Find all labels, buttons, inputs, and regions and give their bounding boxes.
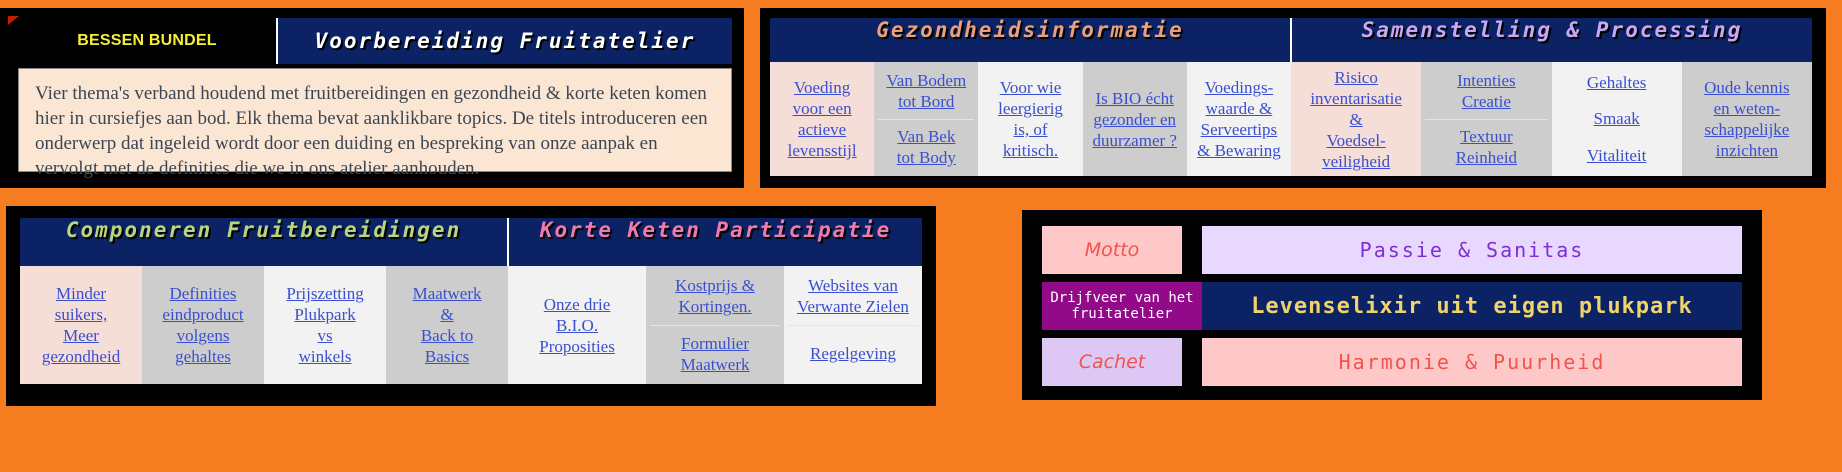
motto-table: Motto Passie & Sanitas Drijfveer van het… — [1042, 226, 1742, 386]
topic-cell[interactable]: Oude kennis en weten- schappelijke inzic… — [1682, 62, 1812, 176]
cachet-row: Cachet Harmonie & Puurheid — [1042, 338, 1742, 386]
topic-link[interactable]: eindproduct — [162, 304, 243, 325]
motto-value: Passie & Sanitas — [1202, 226, 1742, 274]
componeren-cells: Minder suikers, Meer gezondheid Definiti… — [20, 266, 508, 392]
topic-cell[interactable]: Prijszetting Plukpark vs winkels — [264, 266, 386, 384]
topic-cell[interactable]: Maatwerk & Back to Basics — [386, 266, 508, 384]
gezondheidsinformatie-cells: Voeding voor een actieve levensstijl Van… — [770, 62, 1291, 176]
topic-link[interactable]: volgens — [177, 325, 230, 346]
topic-cell[interactable]: Voor wie leergierig is, of kritisch. — [978, 62, 1082, 176]
topic-cell[interactable]: Kostprijs & Kortingen. Formulier Maatwer… — [646, 266, 784, 384]
intro-panel-inner: BESSEN BUNDEL Voorbereiding Fruitatelier… — [18, 18, 732, 176]
topic-link[interactable]: Prijszetting — [286, 283, 363, 304]
motto-spacer — [1182, 338, 1202, 386]
topic-link[interactable]: Regelgeving — [810, 343, 896, 364]
topic-link[interactable]: & — [440, 304, 453, 325]
motto-row: Motto Passie & Sanitas — [1042, 226, 1742, 274]
topic-subcell[interactable]: Websites van Verwante Zielen — [788, 268, 918, 325]
topic-link[interactable]: leergierig — [998, 98, 1063, 119]
topic-link[interactable]: tot Bord — [886, 91, 966, 112]
componeren-fruitbereidingen-title: Componeren Fruitbereidingen — [20, 218, 508, 266]
topic-link[interactable]: & Bewaring — [1197, 140, 1281, 161]
topic-link[interactable]: Smaak — [1593, 108, 1639, 129]
red-corner-marker-icon — [8, 16, 19, 25]
topic-cell[interactable]: Intenties Creatie Textuur Reinheid — [1421, 62, 1551, 176]
drijfveer-label: Drijfveer van het fruitatelier — [1042, 282, 1202, 330]
topic-link[interactable]: Verwante Zielen — [797, 296, 909, 317]
topic-link[interactable]: Van Bodem — [886, 70, 966, 91]
topic-cell[interactable]: Voedings- waarde & Serveertips & Bewarin… — [1187, 62, 1291, 176]
samenstelling-processing-title: Samenstelling & Processing — [1291, 18, 1812, 62]
componeren-title-row: Componeren Fruitbereidingen Korte Keten … — [20, 218, 922, 266]
topic-link[interactable]: Serveertips — [1201, 119, 1277, 140]
drijfveer-row: Drijfveer van het fruitatelier Levenseli… — [1042, 282, 1742, 330]
topic-link[interactable]: Formulier — [681, 333, 750, 354]
themes-title-row: Gezondheidsinformatie Samenstelling & Pr… — [770, 18, 1812, 62]
topic-link[interactable]: inventarisatie — [1310, 88, 1402, 109]
topic-link[interactable]: Reinheid — [1456, 147, 1517, 168]
topic-subcell[interactable]: Regelgeving — [788, 325, 918, 383]
componeren-table: Componeren Fruitbereidingen Korte Keten … — [20, 218, 922, 392]
page-root: BESSEN BUNDEL Voorbereiding Fruitatelier… — [0, 0, 1842, 472]
themes-cells-row: Voeding voor een actieve levensstijl Van… — [770, 62, 1812, 176]
topic-link[interactable]: kritisch. — [1003, 140, 1058, 161]
topic-link[interactable]: veiligheid — [1322, 151, 1390, 172]
topic-link[interactable]: vs — [317, 325, 332, 346]
motto-spacer — [1182, 226, 1202, 274]
top-row: BESSEN BUNDEL Voorbereiding Fruitatelier… — [0, 8, 1842, 188]
topic-link[interactable]: gehaltes — [175, 346, 231, 367]
topic-link[interactable]: B.I.O. — [556, 315, 598, 336]
topic-link[interactable]: Onze drie — [544, 294, 611, 315]
korteketen-cells: Onze drie B.I.O. Proposities Kostprijs &… — [508, 266, 922, 392]
topic-cell[interactable]: Van Bodem tot Bord Van Bek tot Body — [874, 62, 978, 176]
topic-link[interactable]: is, of — [1014, 119, 1048, 140]
topic-link[interactable]: Intenties — [1457, 70, 1516, 91]
divider-cell — [1182, 274, 1202, 282]
topic-link[interactable]: levensstijl — [788, 140, 857, 161]
voorbereiding-title: Voorbereiding Fruitatelier — [278, 18, 732, 64]
topic-link[interactable]: Oude kennis — [1704, 77, 1789, 98]
topic-link[interactable]: Vitaliteit — [1587, 145, 1646, 166]
topic-link[interactable]: Voor wie — [1000, 77, 1062, 98]
topic-subcell[interactable]: Van Bek tot Body — [878, 119, 974, 175]
bottom-row: Componeren Fruitbereidingen Korte Keten … — [0, 196, 1842, 464]
topic-link[interactable]: tot Body — [897, 147, 956, 168]
topic-link[interactable]: en weten- — [1714, 98, 1781, 119]
topic-link[interactable]: gezondheid — [42, 346, 120, 367]
intro-text: Vier thema's verband houdend met fruitbe… — [18, 68, 732, 172]
topic-link[interactable]: Minder — [56, 283, 106, 304]
drijfveer-value: Levenselixir uit eigen plukpark — [1202, 282, 1742, 330]
bessen-bundel-badge[interactable]: BESSEN BUNDEL — [18, 18, 278, 64]
motto-panel: Motto Passie & Sanitas Drijfveer van het… — [1022, 210, 1762, 400]
topic-link[interactable]: Voeding — [794, 77, 850, 98]
topic-cell[interactable]: Websites van Verwante Zielen Regelgeving — [784, 266, 922, 384]
topic-cell[interactable]: Gehaltes Smaak Vitaliteit — [1552, 62, 1682, 176]
topic-link[interactable]: Maatwerk — [413, 283, 482, 304]
divider-cell — [1182, 330, 1202, 338]
topic-link[interactable]: actieve — [798, 119, 846, 140]
topic-link[interactable]: duurzamer ? — [1092, 130, 1176, 151]
componeren-korteketen-panel: Componeren Fruitbereidingen Korte Keten … — [6, 206, 936, 406]
cachet-value: Harmonie & Puurheid — [1202, 338, 1742, 386]
intro-panel: BESSEN BUNDEL Voorbereiding Fruitatelier… — [0, 8, 744, 188]
topic-link[interactable]: Textuur — [1456, 126, 1517, 147]
topic-link[interactable]: & — [1350, 109, 1363, 130]
korte-keten-participatie-title: Korte Keten Participatie — [508, 218, 922, 266]
topic-link[interactable]: Voedings- — [1205, 77, 1274, 98]
topic-link[interactable]: Risico — [1334, 67, 1377, 88]
topic-cell[interactable]: Is BIO écht gezonder en duurzamer ? — [1083, 62, 1187, 176]
topic-link[interactable]: Creatie — [1457, 91, 1516, 112]
topic-cell[interactable]: Onze drie B.I.O. Proposities — [508, 266, 646, 384]
topic-link[interactable]: Voedsel- — [1327, 130, 1386, 151]
divider-cell — [1042, 330, 1182, 338]
topic-subcell[interactable]: Formulier Maatwerk — [650, 325, 780, 383]
topic-link[interactable]: Van Bek — [897, 126, 956, 147]
panel-gap — [744, 8, 760, 188]
topic-link[interactable]: inzichten — [1716, 140, 1778, 161]
topic-link[interactable]: Basics — [425, 346, 469, 367]
topic-subcell[interactable]: Intenties Creatie — [1425, 64, 1547, 119]
themes-table: Gezondheidsinformatie Samenstelling & Pr… — [770, 18, 1812, 176]
topic-link[interactable]: Meer — [63, 325, 99, 346]
topic-link[interactable]: Gehaltes — [1587, 72, 1646, 93]
topic-link[interactable]: suikers, — [55, 304, 107, 325]
topic-subcell[interactable]: Van Bodem tot Bord — [878, 64, 974, 119]
topic-cell[interactable]: Risico inventarisatie & Voedsel- veiligh… — [1291, 62, 1421, 176]
gezondheidsinformatie-title: Gezondheidsinformatie — [770, 18, 1291, 62]
topic-link[interactable]: Kortingen. — [675, 296, 755, 317]
topic-link[interactable]: Is BIO écht — [1096, 88, 1174, 109]
topic-link[interactable]: Definities — [170, 283, 237, 304]
motto-row-divider — [1042, 330, 1742, 338]
divider-cell — [1042, 274, 1182, 282]
topic-link[interactable]: waarde & — [1206, 98, 1273, 119]
divider-cell — [1202, 330, 1742, 338]
motto-label: Motto — [1042, 226, 1182, 274]
divider-cell — [1202, 274, 1742, 282]
cachet-label: Cachet — [1042, 338, 1182, 386]
intro-header-row: BESSEN BUNDEL Voorbereiding Fruitatelier — [18, 18, 732, 64]
topic-cell[interactable]: Definities eindproduct volgens gehaltes — [142, 266, 264, 384]
topic-link[interactable]: Websites van — [797, 275, 909, 296]
topic-link[interactable]: schappelijke — [1704, 119, 1789, 140]
topic-link[interactable]: Maatwerk — [681, 354, 750, 375]
samenstelling-cells: Risico inventarisatie & Voedsel- veiligh… — [1291, 62, 1812, 176]
componeren-cells-row: Minder suikers, Meer gezondheid Definiti… — [20, 266, 922, 392]
topic-link[interactable]: Proposities — [539, 336, 615, 357]
topic-link[interactable]: voor een — [793, 98, 852, 119]
topic-link[interactable]: Kostprijs & — [675, 275, 755, 296]
themes-panel: Gezondheidsinformatie Samenstelling & Pr… — [760, 8, 1826, 188]
topic-link[interactable]: Plukpark — [294, 304, 355, 325]
topic-link[interactable]: gezonder en — [1093, 109, 1176, 130]
topic-cell[interactable]: Voeding voor een actieve levensstijl — [770, 62, 874, 176]
motto-row-divider — [1042, 274, 1742, 282]
topic-subcell[interactable]: Textuur Reinheid — [1425, 119, 1547, 175]
topic-link[interactable]: Back to — [421, 325, 473, 346]
topic-subcell[interactable]: Kostprijs & Kortingen. — [650, 268, 780, 325]
topic-link[interactable]: winkels — [299, 346, 352, 367]
topic-cell[interactable]: Minder suikers, Meer gezondheid — [20, 266, 142, 384]
